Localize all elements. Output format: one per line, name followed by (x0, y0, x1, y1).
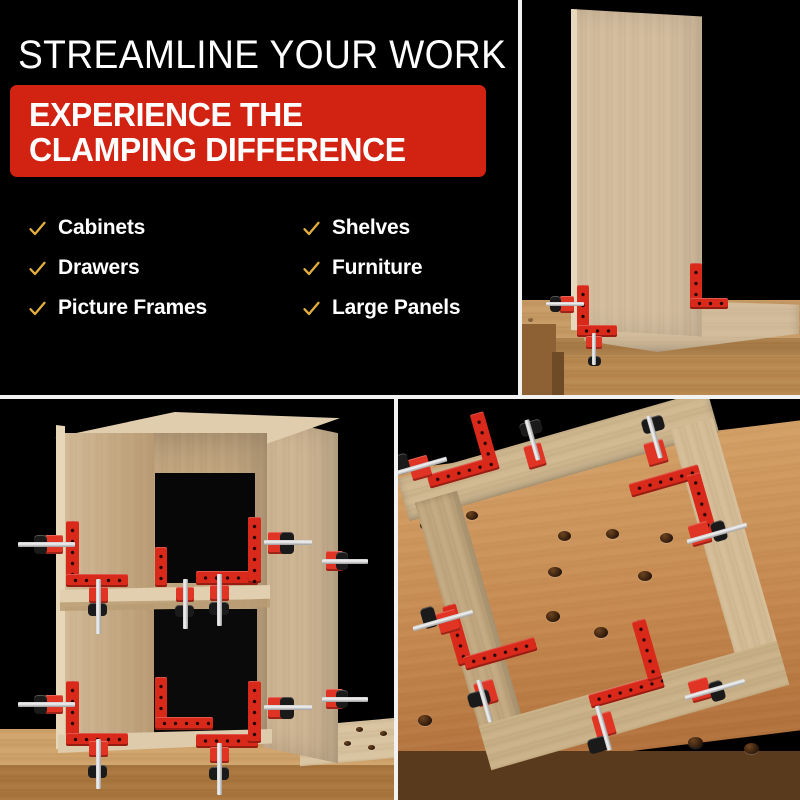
promo-banner-line-2: CLAMPING DIFFERENCE (29, 133, 406, 166)
promo-banner: EXPERIENCE THE CLAMPING DIFFERENCE (10, 85, 486, 177)
product-photo-cabinet-carcass (0, 399, 394, 800)
check-icon (302, 219, 321, 238)
list-item: Large Panels (282, 296, 518, 320)
list-item: Shelves (282, 216, 518, 240)
divider-vertical-bottom (394, 399, 398, 800)
check-icon (28, 219, 47, 238)
promo-banner-line-1: EXPERIENCE THE (29, 98, 303, 131)
check-icon (28, 259, 47, 278)
list-item: Drawers (0, 256, 282, 280)
list-item: Furniture (282, 256, 518, 280)
divider-vertical-top (518, 0, 522, 395)
list-item-label: Shelves (332, 216, 410, 240)
list-item-label: Picture Frames (58, 296, 207, 320)
check-icon (302, 259, 321, 278)
check-icon (302, 299, 321, 318)
banner-stage: STREAMLINE YOUR WORK EXPERIENCE THE CLAM… (0, 0, 800, 800)
list-item: Cabinets (0, 216, 282, 240)
divider-horizontal (0, 395, 800, 399)
check-icon (28, 299, 47, 318)
list-item-label: Cabinets (58, 216, 145, 240)
list-item-label: Drawers (58, 256, 139, 280)
list-item-label: Furniture (332, 256, 422, 280)
list-item-label: Large Panels (332, 296, 460, 320)
marketing-text-panel: STREAMLINE YOUR WORK EXPERIENCE THE CLAM… (0, 0, 518, 395)
page-title: STREAMLINE YOUR WORK (18, 33, 506, 77)
feature-list: Cabinets Shelves Drawers Furniture (0, 208, 518, 328)
product-photo-square-frame (398, 399, 800, 800)
product-photo-panel-assembly (522, 0, 800, 395)
list-item: Picture Frames (0, 296, 282, 320)
